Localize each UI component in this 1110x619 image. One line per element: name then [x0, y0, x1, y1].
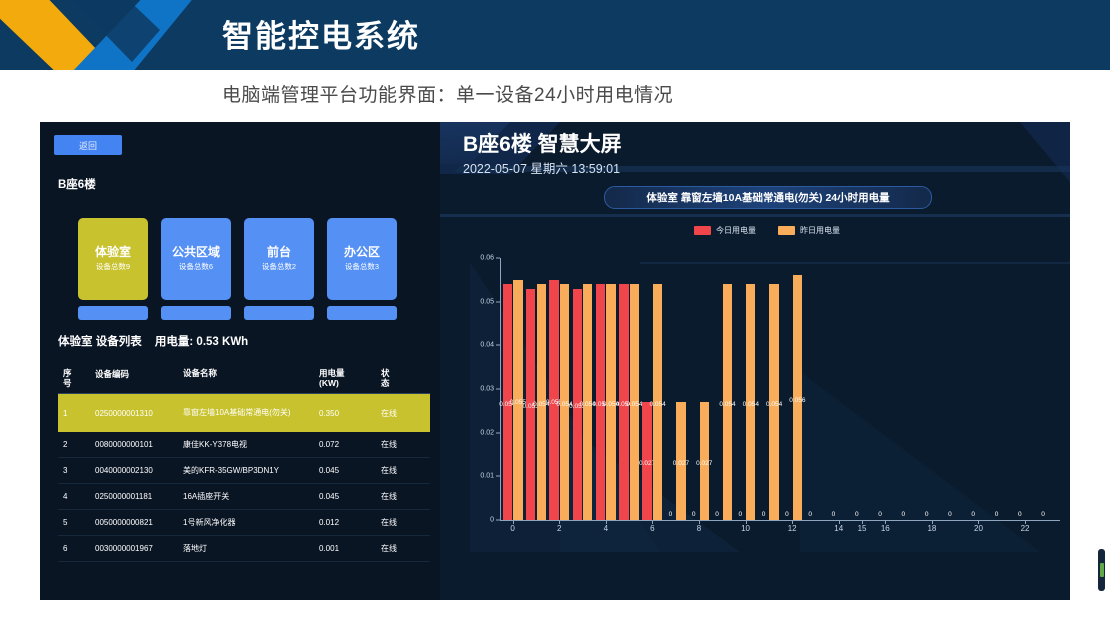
room-card-count: 设备总数3	[345, 263, 379, 272]
x-axis-tick	[699, 520, 700, 524]
cell-index: 4	[58, 492, 95, 501]
bar-yesterday-1[interactable]: 0.054	[537, 284, 546, 520]
subtitle: 电脑端管理平台功能界面：单一设备24小时用电情况	[222, 80, 673, 107]
v-logo-icon	[0, 0, 200, 70]
legend-label: 昨日用电量	[800, 225, 840, 236]
bar-yesterday-3[interactable]: 0.054	[583, 284, 592, 520]
cell-status: 在线	[381, 491, 421, 502]
cell-code: 0050000000821	[95, 518, 183, 527]
cell-code: 0250000001181	[95, 492, 183, 501]
bar-today-2[interactable]: 0.055	[549, 280, 558, 520]
chart-y-axis: 00.010.020.030.040.050.06	[466, 258, 500, 520]
cell-name: 1号新风净化器	[183, 518, 319, 528]
x-axis-tick	[862, 520, 863, 524]
y-axis-tick-label: 0.03	[480, 386, 494, 393]
legend-label: 今日用电量	[716, 225, 756, 236]
y-axis-tick-label: 0.06	[480, 255, 494, 262]
cell-code: 0040000002130	[95, 466, 183, 475]
x-axis-tick-label: 4	[604, 524, 608, 533]
x-axis-tick-label: 14	[834, 524, 843, 533]
bar-yesterday-12[interactable]: 0.056	[793, 275, 802, 520]
x-axis-tick	[885, 520, 886, 524]
cell-status: 在线	[381, 543, 421, 554]
bar-zero-label-today-18: 0	[925, 511, 929, 518]
y-axis-tick-label: 0	[490, 517, 494, 524]
bar-yesterday-10[interactable]: 0.054	[746, 284, 755, 520]
room-card-stub-1[interactable]	[78, 306, 148, 320]
x-axis-tick-label: 12	[788, 524, 797, 533]
bar-value-label: 0.027	[673, 460, 689, 467]
table-row[interactable]: 30040000002130美的KFR-35GW/BP3DN1Y0.045在线	[58, 458, 430, 484]
x-axis-tick	[792, 520, 793, 524]
bar-value-label: 0.056	[789, 397, 805, 404]
table-row[interactable]: 500500000008211号新风净化器0.012在线	[58, 510, 430, 536]
bar-zero-label-today-19: 0	[948, 511, 952, 518]
bar-zero-label-today-16: 0	[878, 511, 882, 518]
x-axis-tick	[652, 520, 653, 524]
bar-today-6[interactable]: 0.027	[642, 402, 651, 520]
column-header-status: 状态	[381, 368, 421, 388]
x-axis-tick-label: 20	[974, 524, 983, 533]
cell-code: 0080000000101	[95, 440, 183, 449]
bar-yesterday-4[interactable]: 0.054	[606, 284, 615, 520]
room-card-name: 办公区	[344, 246, 380, 260]
bar-yesterday-11[interactable]: 0.054	[769, 284, 778, 520]
chart-title-banner: 体验室 靠窗左墙10A基础常通电(勿关) 24小时用电量	[604, 186, 932, 209]
bar-zero-label-today-8: 0	[692, 511, 696, 518]
bar-zero-label-today-15: 0	[855, 511, 859, 518]
cell-index: 1	[58, 409, 95, 418]
cell-code: 0030000001967	[95, 544, 183, 553]
cell-status: 在线	[381, 517, 421, 528]
top-banner: 智能控电系统	[0, 0, 1110, 70]
bar-zero-label-today-14: 0	[832, 511, 836, 518]
cell-status: 在线	[381, 465, 421, 476]
x-axis-tick	[559, 520, 560, 524]
slide-root: 智能控电系统 电脑端管理平台功能界面：单一设备24小时用电情况	[0, 0, 1110, 619]
x-axis-tick-label: 16	[881, 524, 890, 533]
bar-zero-label-today-12: 0	[785, 511, 789, 518]
x-axis-tick	[839, 520, 840, 524]
device-list-total-kwh: 用电量: 0.53 KWh	[155, 336, 248, 348]
column-header-code: 设备编码	[95, 368, 183, 380]
room-card-name: 公共区域	[172, 246, 220, 260]
bar-zero-label-today-9: 0	[715, 511, 719, 518]
room-card-name: 体验室	[95, 246, 131, 260]
bar-value-label: 0.054	[626, 401, 642, 408]
room-card-2[interactable]: 公共区域设备总数6	[161, 218, 231, 300]
device-list-title: 体验室 设备列表	[58, 336, 142, 348]
room-card-stub-2[interactable]	[161, 306, 231, 320]
room-card-list: 体验室设备总数9公共区域设备总数6前台设备总数2办公区设备总数3	[78, 218, 408, 318]
bar-zero-label-today-13: 0	[808, 511, 812, 518]
x-axis-tick-label: 6	[650, 524, 654, 533]
bar-value-label: 0.054	[650, 401, 666, 408]
room-card-4[interactable]: 办公区设备总数3	[327, 218, 397, 300]
cell-index: 5	[58, 518, 95, 527]
floor-label: B座6楼	[58, 176, 96, 192]
room-card-count: 设备总数6	[179, 263, 213, 272]
column-header-index: 序号	[58, 368, 95, 388]
bar-value-label: 0.054	[719, 401, 735, 408]
room-card-stub-3[interactable]	[244, 306, 314, 320]
cell-name: 康佳KK-Y378电视	[183, 440, 319, 450]
cell-index: 3	[58, 466, 95, 475]
cell-kw: 0.072	[319, 440, 381, 449]
device-list-heading: 体验室 设备列表 用电量: 0.53 KWh	[58, 333, 248, 349]
room-card-count: 设备总数2	[262, 263, 296, 272]
x-axis-tick	[978, 520, 979, 524]
bar-zero-label-today-11: 0	[762, 511, 766, 518]
bar-zero-label-today-21: 0	[995, 511, 999, 518]
column-header-kw: 用电量(KW)	[319, 368, 381, 388]
chart-plot-area: 0.0540.0550.0530.0540.0550.0540.0530.054…	[501, 258, 1060, 520]
room-card-3[interactable]: 前台设备总数2	[244, 218, 314, 300]
x-axis-tick	[513, 520, 514, 524]
page-title: 智能控电系统	[222, 11, 420, 56]
cell-status: 在线	[381, 439, 421, 450]
cell-kw: 0.045	[319, 466, 381, 475]
table-row[interactable]: 20080000000101康佳KK-Y378电视0.072在线	[58, 432, 430, 458]
cell-name: 落地灯	[183, 544, 319, 554]
bar-zero-label-today-17: 0	[902, 511, 906, 518]
x-axis-tick-label: 8	[697, 524, 701, 533]
room-card-stub-4[interactable]	[327, 306, 397, 320]
room-card-name: 前台	[267, 246, 291, 260]
legend-item-1[interactable]: 今日用电量	[694, 225, 756, 236]
table-row[interactable]: 60030000001967落地灯0.001在线	[58, 536, 430, 562]
cell-kw: 0.045	[319, 492, 381, 501]
bar-zero-label-today-22: 0	[1018, 511, 1022, 518]
legend-swatch-icon	[778, 226, 795, 235]
table-row[interactable]: 10250000001310靠窗左墙10A基础常通电(勿关)0.350在线	[58, 394, 430, 432]
x-axis-tick	[932, 520, 933, 524]
cell-name: 美的KFR-35GW/BP3DN1Y	[183, 466, 319, 476]
cell-index: 6	[58, 544, 95, 553]
bar-zero-label-today-7: 0	[669, 511, 673, 518]
cell-kw: 0.012	[319, 518, 381, 527]
bar-zero-label-today-23: 0	[1041, 511, 1045, 518]
cell-name: 16A插座开关	[183, 492, 319, 502]
scrollbar-thumb[interactable]	[1100, 563, 1104, 577]
cell-kw: 0.350	[319, 409, 381, 418]
cell-code: 0250000001310	[95, 409, 183, 418]
screen-datetime: 2022-05-07 星期六 13:59:01	[463, 158, 620, 177]
y-axis-tick-label: 0.05	[480, 298, 494, 305]
x-axis-tick	[1025, 520, 1026, 524]
back-button[interactable]: 返回	[54, 135, 122, 155]
bar-yesterday-6[interactable]: 0.054	[653, 284, 662, 520]
vertical-scrollbar[interactable]	[1098, 549, 1105, 591]
table-row[interactable]: 4025000000118116A插座开关0.045在线	[58, 484, 430, 510]
bar-yesterday-0[interactable]: 0.055	[513, 280, 522, 520]
x-axis-tick	[606, 520, 607, 524]
cell-status: 在线	[381, 408, 421, 419]
legend-item-2[interactable]: 昨日用电量	[778, 225, 840, 236]
screen-title: B座6楼 智慧大屏	[463, 128, 622, 158]
room-card-1[interactable]: 体验室设备总数9	[78, 218, 148, 300]
chart-x-axis-line	[500, 520, 1060, 521]
bar-value-label: 0.027	[696, 460, 712, 467]
x-axis-tick-label: 10	[741, 524, 750, 533]
cell-name: 靠窗左墙10A基础常通电(勿关)	[183, 408, 319, 418]
y-axis-tick-label: 0.04	[480, 342, 494, 349]
usage-bar-chart: 00.010.020.030.040.050.06 0.0540.0550.05…	[466, 258, 1060, 530]
bar-yesterday-7[interactable]: 0.027	[676, 402, 685, 520]
bar-yesterday-5[interactable]: 0.054	[630, 284, 639, 520]
bar-zero-label-today-20: 0	[971, 511, 975, 518]
bar-zero-label-today-10: 0	[738, 511, 742, 518]
device-table: 序号设备编码设备名称用电量(KW)状态10250000001310靠窗左墙10A…	[58, 368, 430, 562]
bar-yesterday-2[interactable]: 0.054	[560, 284, 569, 520]
y-axis-tick-label: 0.02	[480, 429, 494, 436]
bar-value-label: 0.054	[766, 401, 782, 408]
column-header-name: 设备名称	[183, 368, 319, 379]
x-axis-tick-label: 15	[858, 524, 867, 533]
y-axis-tick-label: 0.01	[480, 473, 494, 480]
cell-index: 2	[58, 440, 95, 449]
room-card-count: 设备总数9	[96, 263, 130, 272]
legend-swatch-icon	[694, 226, 711, 235]
bar-yesterday-9[interactable]: 0.054	[723, 284, 732, 520]
bar-value-label: 0.054	[743, 401, 759, 408]
x-axis-tick-label: 0	[510, 524, 514, 533]
x-axis-tick-label: 2	[557, 524, 561, 533]
x-axis-tick	[746, 520, 747, 524]
x-axis-tick-label: 18	[927, 524, 936, 533]
x-axis-tick-label: 22	[1021, 524, 1030, 533]
table-header-row: 序号设备编码设备名称用电量(KW)状态	[58, 368, 430, 394]
bar-yesterday-8[interactable]: 0.027	[700, 402, 709, 520]
cell-kw: 0.001	[319, 544, 381, 553]
chart-legend: 今日用电量昨日用电量	[604, 225, 930, 236]
